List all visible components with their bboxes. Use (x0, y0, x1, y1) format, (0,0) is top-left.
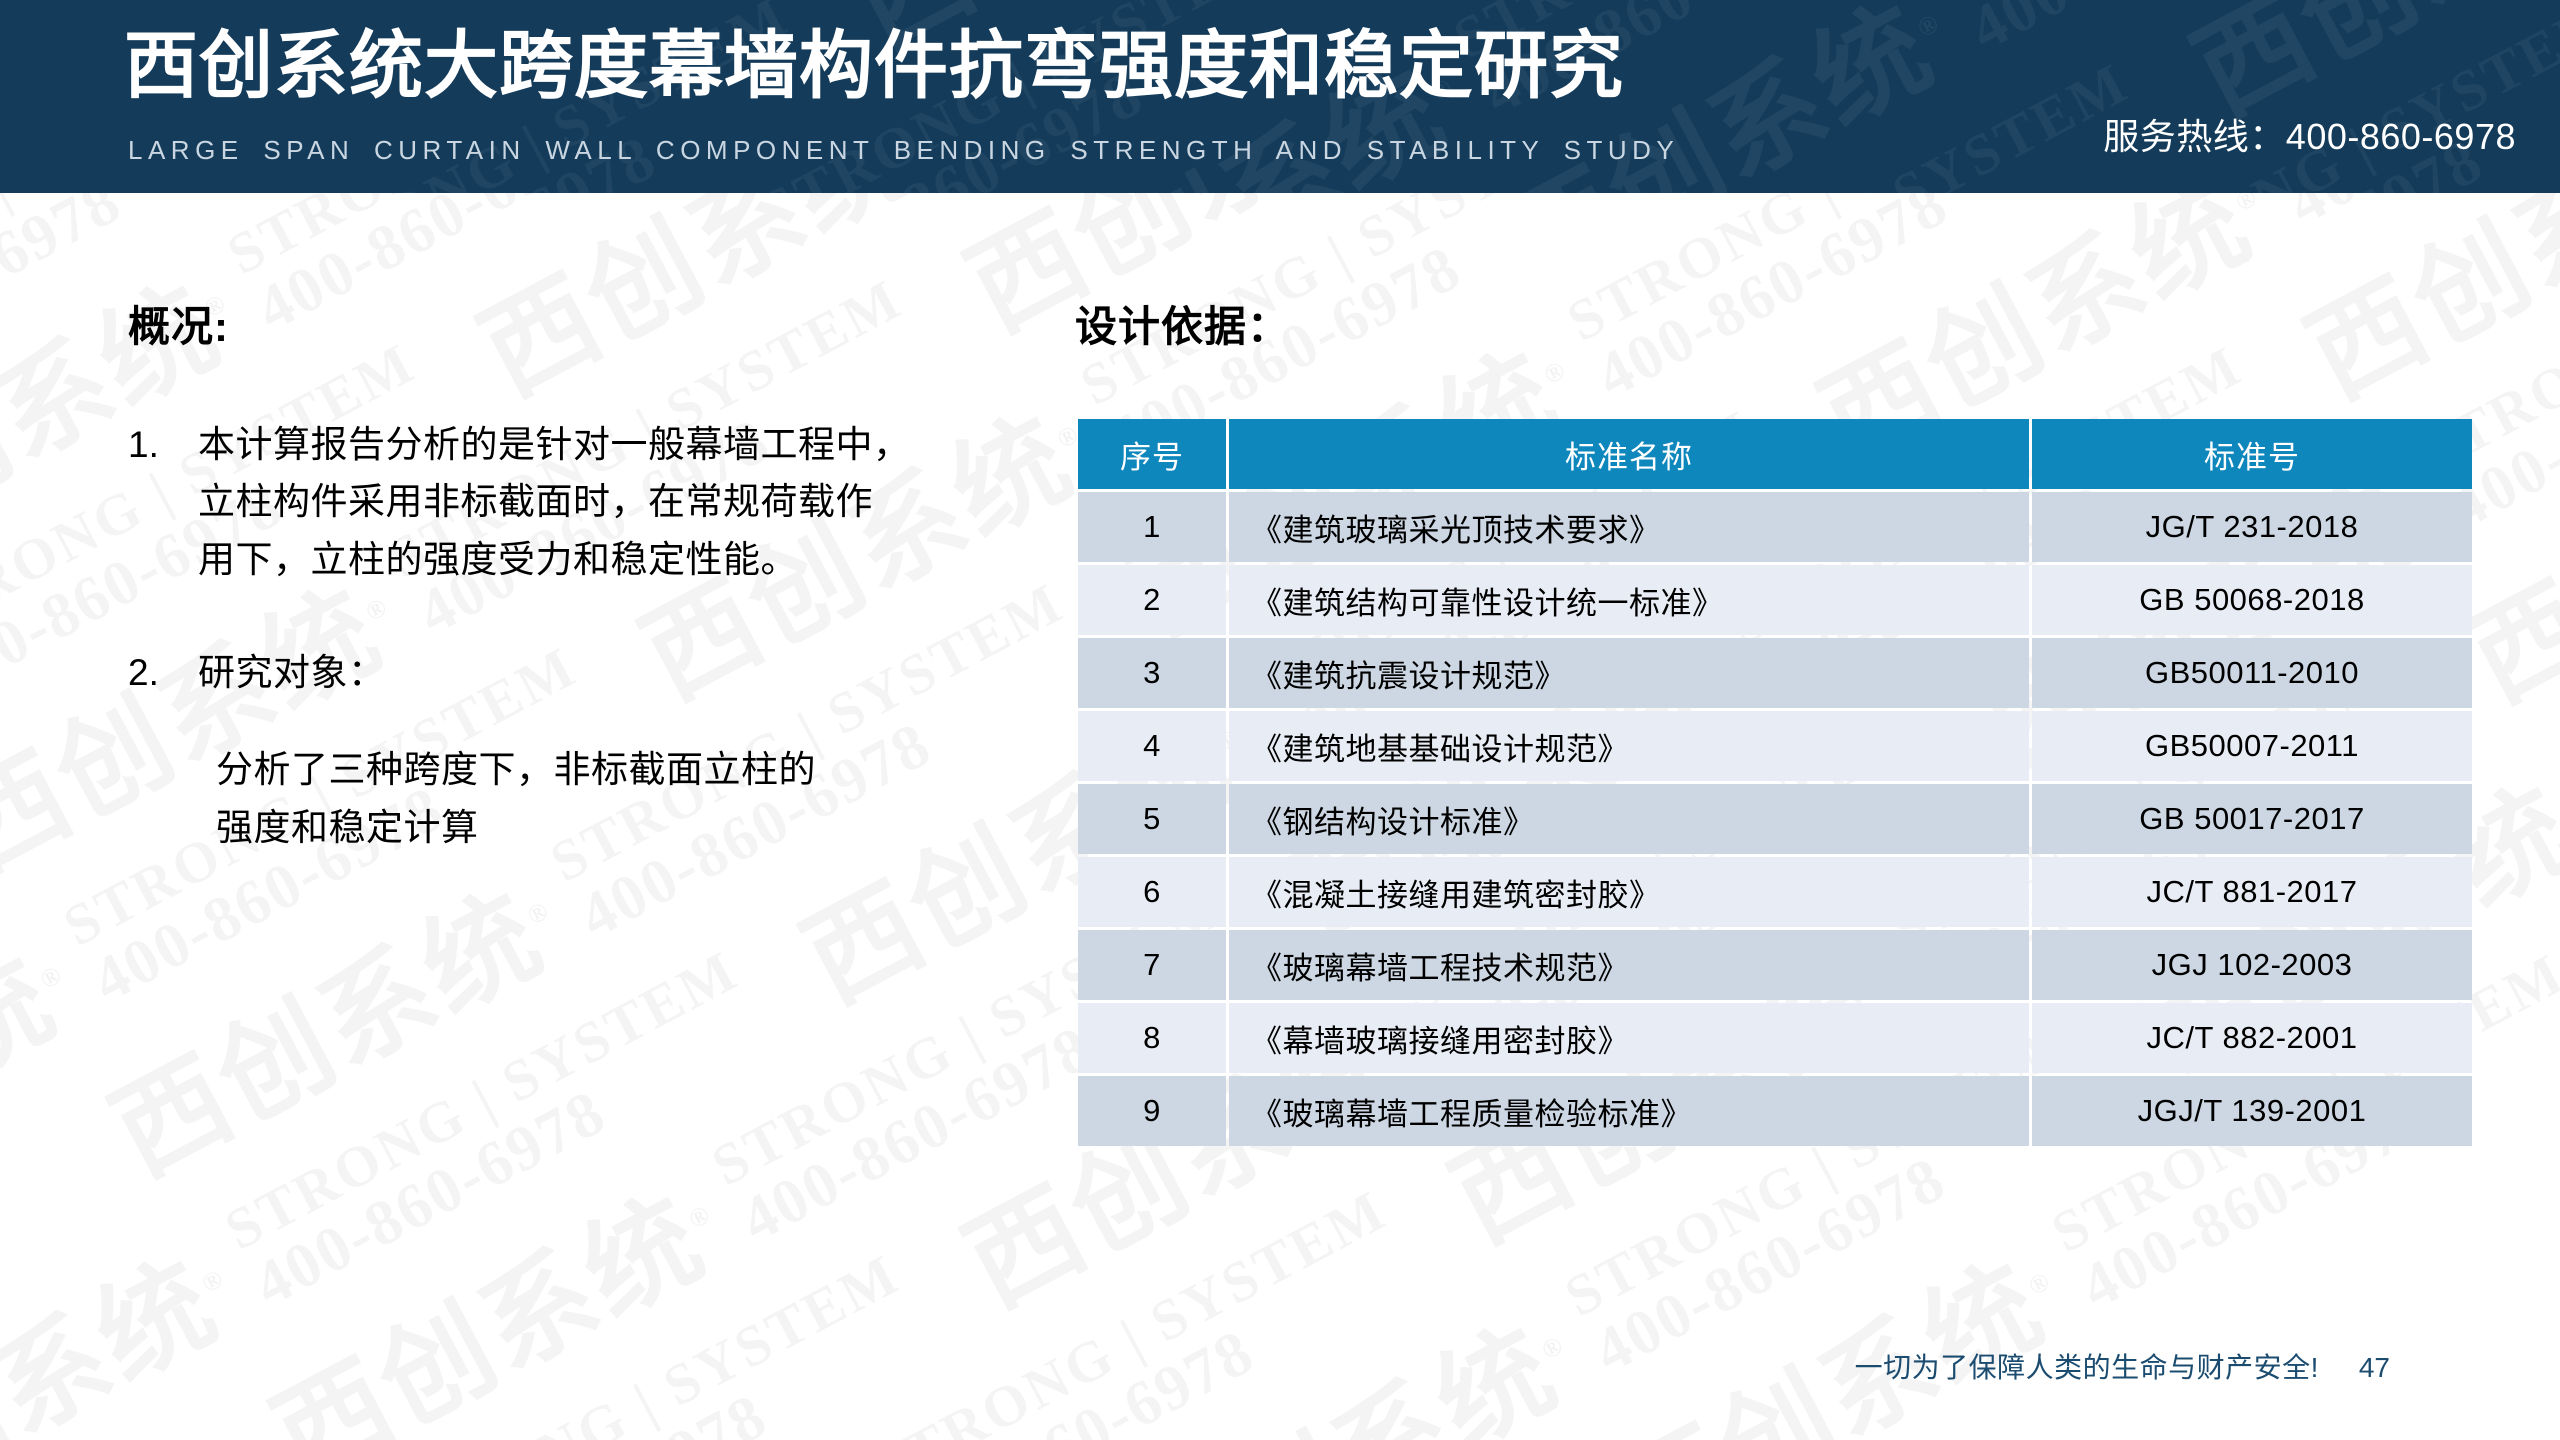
overview-item-2-body: 研究对象： 分析了三种跨度下，非标截面立柱的 强度和稳定计算 (198, 644, 988, 856)
cell-no: 6 (1078, 857, 1226, 927)
table-row: 2《建筑结构可靠性设计统一标准》GB 50068-2018 (1078, 565, 2472, 635)
cell-no: 5 (1078, 784, 1226, 854)
table-row: 8《幕墙玻璃接缝用密封胶》JC/T 882-2001 (1078, 1003, 2472, 1073)
table-row: 7《玻璃幕墙工程技术规范》JGJ 102-2003 (1078, 930, 2472, 1000)
overview-item-2-sub-2: 强度和稳定计算 (198, 799, 988, 856)
table-row: 3《建筑抗震设计规范》GB50011-2010 (1078, 638, 2472, 708)
cell-code: GB50011-2010 (2032, 638, 2472, 708)
column-header-code: 标准号 (2032, 419, 2472, 489)
cell-name: 《建筑玻璃采光顶技术要求》 (1229, 492, 2029, 562)
table-row: 5《钢结构设计标准》GB 50017-2017 (1078, 784, 2472, 854)
slide-canvas: 西创系统®STRONG | SYSTEM400-860-6978西创系统®STR… (0, 0, 2560, 1440)
overview-item-1-number: 1. (128, 416, 198, 473)
table-row: 4《建筑地基基础设计规范》GB50007-2011 (1078, 711, 2472, 781)
cell-no: 8 (1078, 1003, 1226, 1073)
overview-section: 概况: 1. 本计算报告分析的是针对一般幕墙工程中， 立柱构件采用非标截面时，在… (128, 293, 988, 912)
overview-item-1-body: 本计算报告分析的是针对一般幕墙工程中， 立柱构件采用非标截面时，在常规荷载作 用… (198, 416, 988, 588)
overview-item-1-line-2: 立柱构件采用非标截面时，在常规荷载作 (198, 473, 988, 530)
standards-table-head: 序号 标准名称 标准号 (1078, 419, 2472, 489)
cell-no: 7 (1078, 930, 1226, 1000)
cell-code: JC/T 882-2001 (2032, 1003, 2472, 1073)
overview-item-1: 1. 本计算报告分析的是针对一般幕墙工程中， 立柱构件采用非标截面时，在常规荷载… (128, 416, 988, 588)
overview-item-2-number: 2. (128, 644, 198, 701)
footer-slogan: 一切为了保障人类的生命与财产安全! (1855, 1346, 2319, 1386)
table-row: 1《建筑玻璃采光顶技术要求》JG/T 231-2018 (1078, 492, 2472, 562)
overview-item-1-line-1: 本计算报告分析的是针对一般幕墙工程中， (198, 416, 988, 473)
cell-code: JGJ 102-2003 (2032, 930, 2472, 1000)
cell-name: 《幕墙玻璃接缝用密封胶》 (1229, 1003, 2029, 1073)
slide-footer: 一切为了保障人类的生命与财产安全! 47 (1855, 1346, 2390, 1386)
cell-name: 《玻璃幕墙工程质量检验标准》 (1229, 1076, 2029, 1146)
overview-item-2-sub-1: 分析了三种跨度下，非标截面立柱的 (198, 741, 988, 798)
cell-code: JG/T 231-2018 (2032, 492, 2472, 562)
cell-name: 《混凝土接缝用建筑密封胶》 (1229, 857, 2029, 927)
cell-no: 2 (1078, 565, 1226, 635)
standards-table: 序号 标准名称 标准号 1《建筑玻璃采光顶技术要求》JG/T 231-20182… (1075, 416, 2475, 1149)
slide-body: 概况: 1. 本计算报告分析的是针对一般幕墙工程中， 立柱构件采用非标截面时，在… (0, 193, 2560, 1440)
cell-code: GB 50017-2017 (2032, 784, 2472, 854)
cell-name: 《建筑结构可靠性设计统一标准》 (1229, 565, 2029, 635)
cell-code: GB50007-2011 (2032, 711, 2472, 781)
overview-item-2-line-1: 研究对象： (198, 644, 988, 701)
page-number: 47 (2359, 1352, 2390, 1384)
table-row: 6《混凝土接缝用建筑密封胶》JC/T 881-2017 (1078, 857, 2472, 927)
cell-code: GB 50068-2018 (2032, 565, 2472, 635)
cell-no: 3 (1078, 638, 1226, 708)
standards-table-body: 1《建筑玻璃采光顶技术要求》JG/T 231-20182《建筑结构可靠性设计统一… (1078, 492, 2472, 1146)
cell-no: 4 (1078, 711, 1226, 781)
cell-code: JGJ/T 139-2001 (2032, 1076, 2472, 1146)
standards-table-wrap: 序号 标准名称 标准号 1《建筑玻璃采光顶技术要求》JG/T 231-20182… (1075, 416, 2470, 1149)
column-header-name: 标准名称 (1229, 419, 2029, 489)
header-inner: 西创系统大跨度幕墙构件抗弯强度和稳定研究 LARGE SPAN CURTAIN … (0, 0, 2560, 193)
standards-section: 设计依据： 序号 标准名称 标准号 1《建筑玻璃采光顶技术要求》JG/T 231… (1075, 293, 2475, 1149)
cell-name: 《钢结构设计标准》 (1229, 784, 2029, 854)
standards-heading: 设计依据： (1075, 293, 2475, 354)
service-hotline: 服务热线：400-860-6978 (2103, 108, 2516, 160)
cell-name: 《建筑抗震设计规范》 (1229, 638, 2029, 708)
slide-header: 西创系统®STRONG | SYSTEM400-860-6978西创系统®STR… (0, 0, 2560, 193)
table-row: 9《玻璃幕墙工程质量检验标准》JGJ/T 139-2001 (1078, 1076, 2472, 1146)
page-title: 西创系统大跨度幕墙构件抗弯强度和稳定研究 (124, 26, 1624, 106)
column-header-no: 序号 (1078, 419, 1226, 489)
cell-no: 9 (1078, 1076, 1226, 1146)
page-subtitle: LARGE SPAN CURTAIN WALL COMPONENT BENDIN… (128, 135, 1679, 166)
overview-item-2-subblock: 分析了三种跨度下，非标截面立柱的 强度和稳定计算 (198, 741, 988, 856)
cell-code: JC/T 881-2017 (2032, 857, 2472, 927)
overview-heading: 概况: (128, 293, 988, 354)
cell-no: 1 (1078, 492, 1226, 562)
overview-item-1-line-3: 用下，立柱的强度受力和稳定性能。 (198, 531, 988, 588)
cell-name: 《建筑地基基础设计规范》 (1229, 711, 2029, 781)
cell-name: 《玻璃幕墙工程技术规范》 (1229, 930, 2029, 1000)
table-header-row: 序号 标准名称 标准号 (1078, 419, 2472, 489)
overview-item-2: 2. 研究对象： 分析了三种跨度下，非标截面立柱的 强度和稳定计算 (128, 644, 988, 856)
